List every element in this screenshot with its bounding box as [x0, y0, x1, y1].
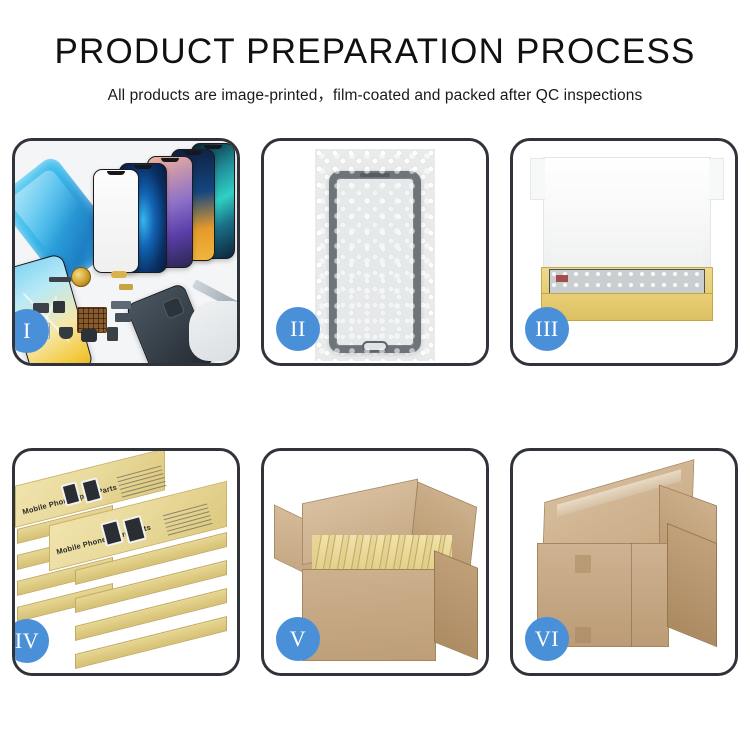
process-step-panel-3: III [510, 138, 738, 366]
copper-coil-part [71, 267, 91, 287]
process-step-panel-6: VI [510, 448, 738, 676]
page-subtitle: All products are image-printed，film-coat… [0, 83, 750, 105]
carton-seam [631, 543, 632, 647]
phone-graphic-1 [93, 169, 139, 273]
spare-part [119, 284, 133, 290]
page-header: PRODUCT PREPARATION PROCESS All products… [0, 0, 750, 105]
spare-part [59, 327, 73, 339]
bubble-wrap-sheet [315, 149, 435, 361]
carton-right-face [667, 523, 717, 647]
carton-flap-tab [575, 555, 591, 573]
spare-part [111, 301, 131, 309]
step-badge-3: III [525, 307, 569, 351]
step-badge-5: V [276, 617, 320, 661]
carton-front-face [302, 569, 436, 661]
product-preparation-page: PRODUCT PREPARATION PROCESS All products… [0, 0, 750, 750]
step-badge-6: VI [525, 617, 569, 661]
carton-flap-tab [575, 627, 591, 643]
process-step-panel-1: I [12, 138, 240, 366]
home-button-icon [362, 341, 388, 352]
box-tray-front-graphic [541, 293, 713, 321]
stacked-box-edge [75, 635, 227, 653]
spare-part [81, 329, 97, 342]
carton-right-face [434, 550, 478, 660]
spare-part [53, 301, 65, 313]
wrapped-screen-graphic [329, 171, 421, 353]
spare-part [107, 327, 118, 341]
spare-part [49, 277, 71, 282]
process-step-grid: I II [12, 138, 738, 676]
notch-icon [134, 165, 152, 169]
process-step-panel-2: II [261, 138, 489, 366]
notch-icon [107, 171, 125, 175]
page-title: PRODUCT PREPARATION PROCESS [0, 34, 750, 71]
hand-graphic [189, 301, 237, 361]
spare-part [115, 313, 131, 322]
earpiece-icon [360, 173, 390, 177]
notch-icon [184, 151, 202, 155]
process-step-panel-4: Mobile Phone Spare Parts Mobile Phone Sp… [12, 448, 240, 676]
spare-part [111, 271, 127, 278]
process-step-panel-5: V [261, 448, 489, 676]
foam-insert-graphic [551, 197, 703, 269]
notch-icon [161, 158, 179, 162]
step-badge-2: II [276, 307, 320, 351]
